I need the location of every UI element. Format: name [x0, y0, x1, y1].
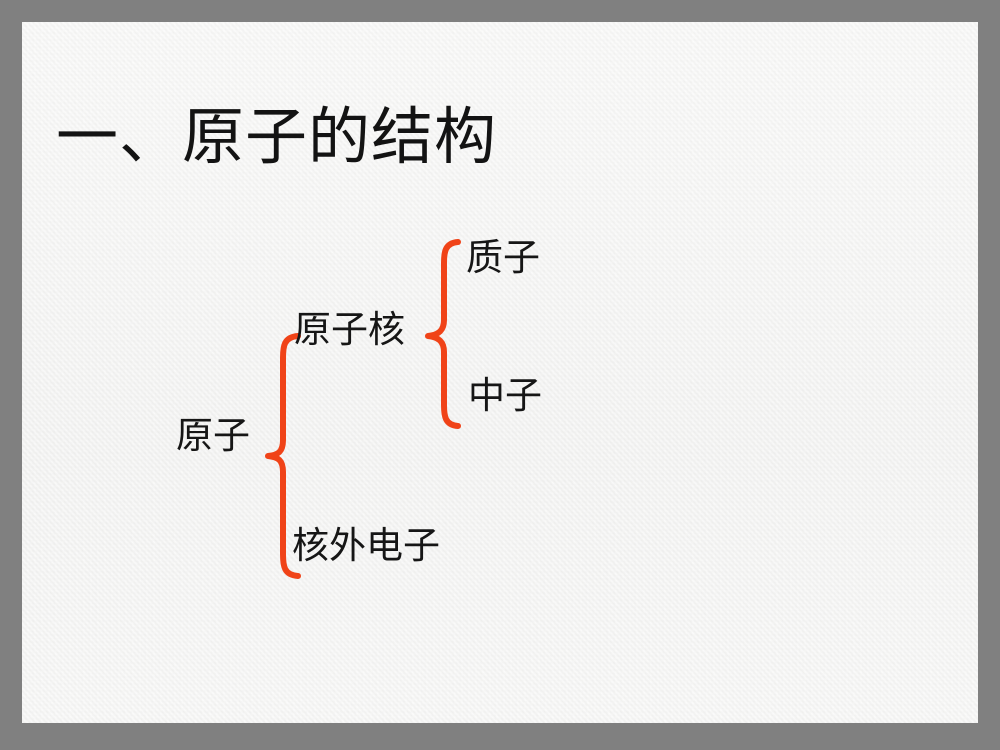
node-label-neutron: 中子 [468, 376, 542, 416]
node-label-outer-electron: 核外电子 [292, 526, 440, 566]
node-label-nucleus: 原子核 [294, 310, 405, 350]
atom-structure-diagram: 原子 原子核 核外电子 质子 中子 [22, 22, 978, 723]
slide-canvas: 一、原子的结构 原子 原子核 核外电子 质子 中子 [22, 22, 978, 723]
slide-frame: 一、原子的结构 原子 原子核 核外电子 质子 中子 [0, 0, 1000, 750]
node-label-atom: 原子 [176, 416, 250, 456]
node-label-proton: 质子 [466, 238, 540, 278]
nucleus-brace-icon [418, 236, 462, 432]
